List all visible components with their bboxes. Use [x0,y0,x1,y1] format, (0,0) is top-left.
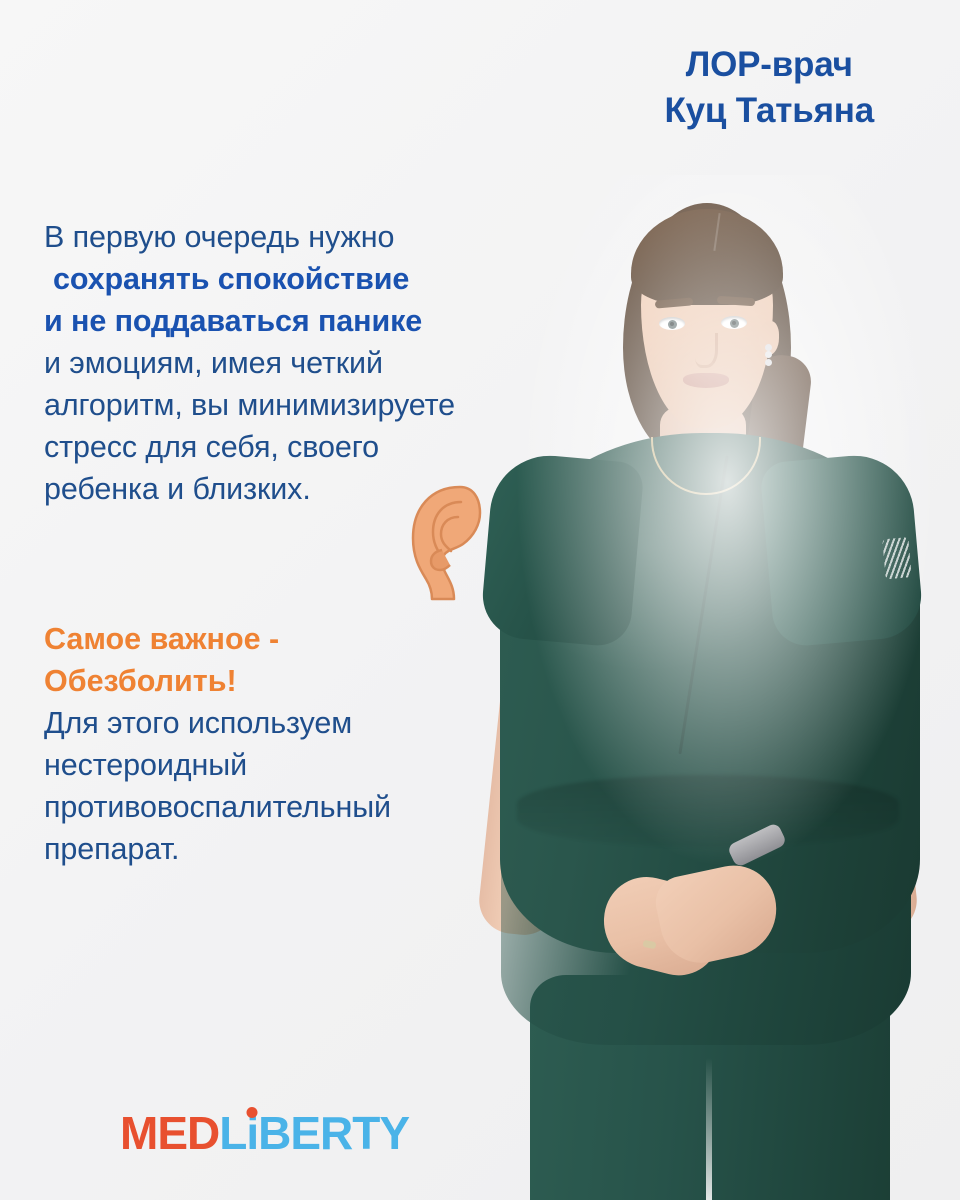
eye-left [659,317,685,330]
paragraph-two-text: Для этого используем нестероидный против… [44,702,604,870]
doctor-role-line: ЛОР-врач [664,42,874,88]
p2-line-3: противовоспалительный [44,786,604,828]
earring [765,351,772,358]
nose [695,333,718,368]
hair-front [631,209,783,305]
p2-line-4: препарат. [44,828,604,870]
paragraph-one: В первую очередь нужно сохранять спокойс… [44,216,604,511]
p1-line-3-bold: и не поддаваться панике [44,300,604,342]
medliberty-logo: MEDLiBERTY [120,1110,409,1156]
paragraph-two: Самое важное - Обезболить! Для этого исп… [44,618,604,870]
h2-line-2: Обезболить! [44,660,604,702]
logo-i-dot-icon [247,1107,258,1118]
doctor-fullname-line: Куц Татьяна [664,88,874,134]
sleeve-right [759,451,925,648]
p1-line-5: алгоритм, вы минимизируете [44,384,604,426]
p1-line-4: и эмоциям, имея четкий [44,342,604,384]
eye-right [721,316,747,329]
logo-l: L [219,1107,246,1159]
p2-line-2: нестероидный [44,744,604,786]
p1-line-1: В первую очередь нужно [44,216,604,258]
lips [683,373,729,388]
paragraph-one-text: В первую очередь нужно сохранять спокойс… [44,216,604,511]
logo-i: i [246,1110,258,1156]
p1-line-2-bold: сохранять спокойствие [44,258,604,300]
logo-berty: BERTY [258,1107,409,1159]
p2-line-1: Для этого используем [44,702,604,744]
p1-line-6: стресс для себя, своего [44,426,604,468]
h2-line-1: Самое важное - [44,618,604,660]
p1-line-7: ребенка и близких. [44,468,604,510]
doctor-name-heading: ЛОР-врач Куц Татьяна [664,42,874,133]
promo-slide: ЛОР-врач Куц Татьяна [0,0,960,1200]
sleeve-embroidery-icon [882,537,911,579]
heading-important: Самое важное - Обезболить! [44,618,604,702]
ear-icon [404,484,512,602]
logo-med: MED [120,1107,219,1159]
ear-right [759,321,779,355]
clasped-hands [603,863,793,1003]
